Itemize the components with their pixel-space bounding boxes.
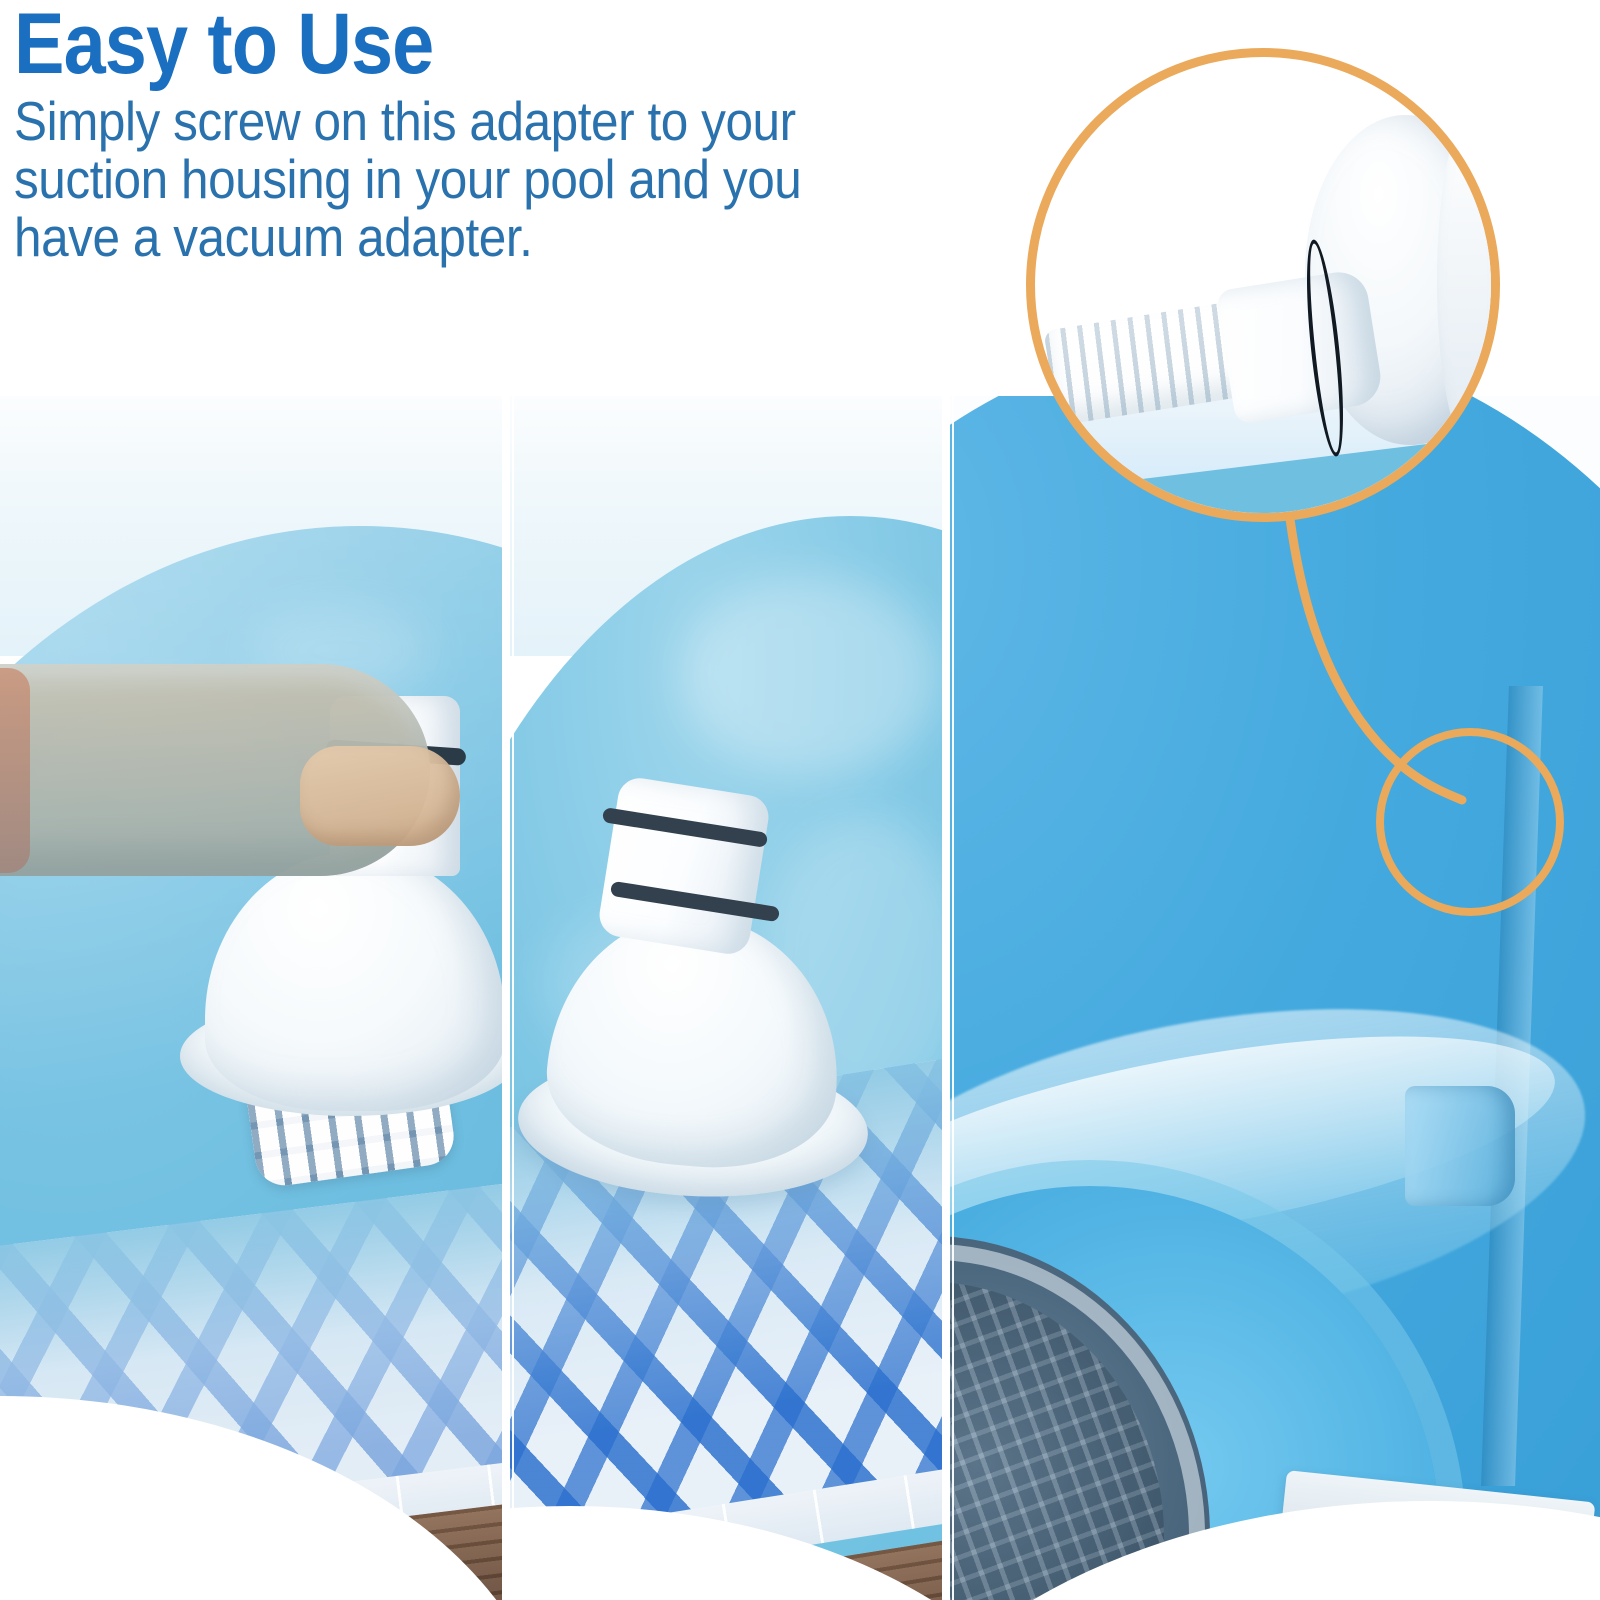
- adapter-neck: [596, 775, 771, 957]
- wall-suction-fitting: [1405, 1086, 1515, 1206]
- panel-divider-line: [952, 396, 954, 1600]
- body-line-2: suction housing in your pool and you: [14, 150, 914, 208]
- photo-panel-pool-pump-housing: [950, 396, 1600, 1600]
- water-caustic: [680, 576, 940, 776]
- body-copy: Simply screw on this adapter to your suc…: [14, 92, 914, 267]
- photo-panel-adapter-installed: [510, 396, 942, 1600]
- panel-divider-line: [512, 396, 514, 1600]
- copy-block: Easy to Use Simply screw on this adapter…: [14, 0, 1014, 267]
- photo-strip: [0, 396, 1600, 1600]
- panel-divider: [502, 396, 510, 1600]
- panel-divider: [942, 396, 950, 1600]
- photo-panel-hand-with-adapter: [0, 396, 502, 1600]
- thumb: [300, 746, 460, 846]
- page-title: Easy to Use: [14, 4, 894, 86]
- product-infographic: Easy to Use Simply screw on this adapter…: [0, 0, 1600, 1600]
- body-line-1: Simply screw on this adapter to your: [14, 92, 914, 150]
- body-line-3: have a vacuum adapter.: [14, 208, 914, 266]
